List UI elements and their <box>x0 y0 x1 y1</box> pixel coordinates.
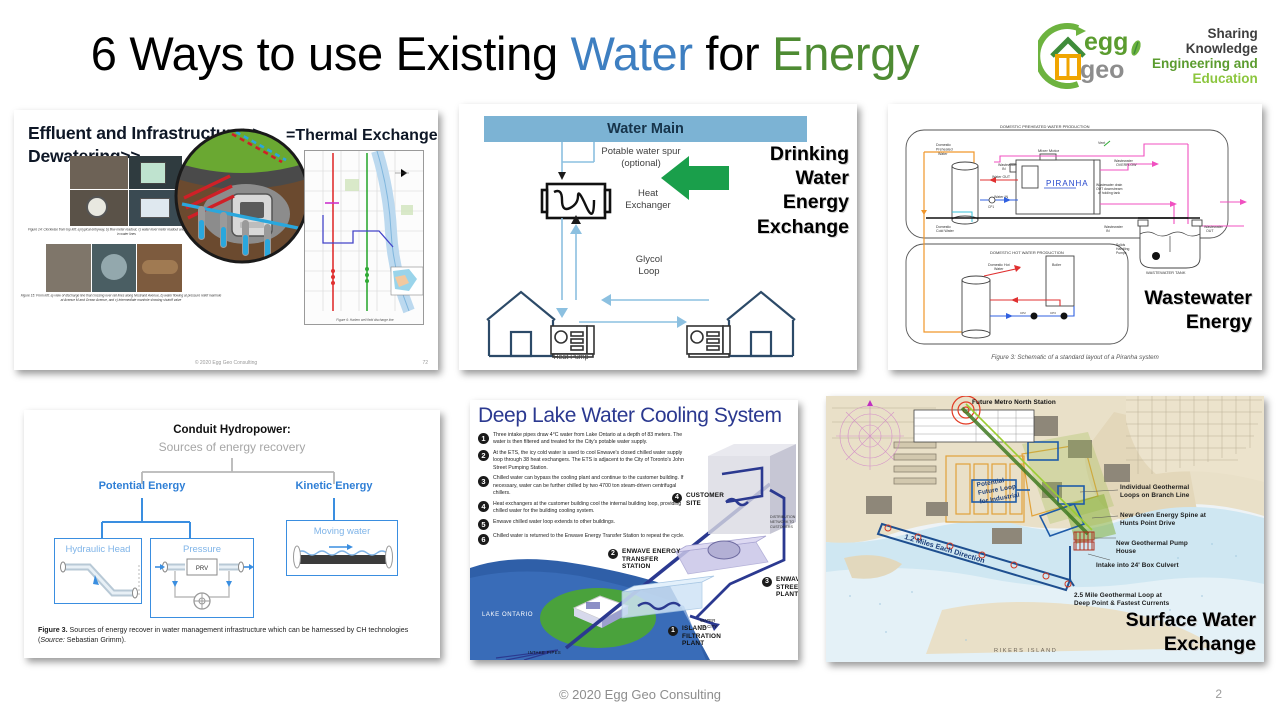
map-marker-4: 4 CUSTOMER SITE <box>672 492 726 507</box>
marker-label: CUSTOMER SITE <box>686 492 726 507</box>
step-number: 2 <box>478 450 489 461</box>
panel-effluent-slide-footer: © 2020 Egg Geo Consulting <box>14 360 438 366</box>
egg-geo-logo: egg geo Sharing Knowledge Engineering an… <box>1038 18 1270 94</box>
step-number: 3 <box>478 476 489 487</box>
deep-lake-title: Deep Lake Water Cooling System <box>478 404 782 428</box>
panel-effluent-infrastructure[interactable]: Effluent and Infrastructure>> Dewatering… <box>14 110 438 370</box>
wastewater-callout-line-1: Wastewater <box>1062 287 1252 310</box>
step-text: Chilled water is returned to the Enwave … <box>493 533 684 545</box>
slide-title-bar: 6 Ways to use Existing Water for Energy <box>0 18 1010 88</box>
title-part-water: Water <box>571 27 693 80</box>
map-label-new-geothermal-pump-house: New Geothermal Pump House <box>1116 540 1202 557</box>
svg-text:Boiler: Boiler <box>1052 263 1062 267</box>
title-part-1: 6 Ways to use Existing <box>91 27 571 80</box>
conduit-box-hydraulic-head: Hydraulic Head <box>54 538 142 604</box>
svg-text:geo: geo <box>1080 56 1124 84</box>
panel-conduit-hydropower[interactable]: Conduit Hydropower: Sources of energy re… <box>24 410 440 658</box>
svg-text:Vent: Vent <box>1098 141 1105 145</box>
callout-line-3: Energy <box>731 190 849 214</box>
logo-mark-icon: egg geo <box>1038 20 1150 92</box>
list-item: 3 Chilled water can bypass the cooling p… <box>478 475 688 497</box>
svg-text:CUSTOMERS: CUSTOMERS <box>770 525 793 529</box>
svg-text:DISTRIBUTION: DISTRIBUTION <box>770 515 796 519</box>
map-marker-3: 3 ENWAVE STREET PLANT <box>762 576 798 599</box>
marker-number: 4 <box>672 493 682 503</box>
map-marker-1: 1 ISLAND FILTRATION PLANT <box>668 625 730 648</box>
svg-text:Cold Water: Cold Water <box>936 229 955 233</box>
conduit-branch-potential: Potential Energy <box>82 480 202 492</box>
svg-text:LAKE ONTARIO: LAKE ONTARIO <box>482 612 533 618</box>
svg-text:Water: Water <box>938 152 948 156</box>
marker-label: ISLAND FILTRATION PLANT <box>682 625 730 648</box>
map-label-intake-box-culvert: Intake into 24' Box Culvert <box>1096 562 1182 570</box>
svg-text:Wastewater: Wastewater <box>998 163 1018 167</box>
svg-text:Mixer Motor: Mixer Motor <box>1038 148 1060 153</box>
conduit-box-moving-water: Moving water <box>286 520 398 576</box>
list-item: 4 Heat exchangers at the customer buildi… <box>478 501 688 516</box>
step-text: Chilled water can bypass the cooling pla… <box>493 475 688 497</box>
logo-tagline-line-2: Knowledge <box>1152 41 1258 56</box>
conduit-caption-bold: Figure 3. <box>38 626 68 634</box>
surface-callout-line-2: Exchange <box>1026 633 1256 656</box>
svg-text:DOMESTIC HOT WATER PRODUCTION: DOMESTIC HOT WATER PRODUCTION <box>990 250 1064 255</box>
surface-callout-line-1: Surface Water <box>1026 609 1256 632</box>
svg-text:Figure 6: Harlem well field di: Figure 6: Harlem well field discharge li… <box>336 318 394 322</box>
conduit-branch-kinetic: Kinetic Energy <box>274 480 394 492</box>
page-title: 6 Ways to use Existing Water for Energy <box>91 26 920 81</box>
map-label-individual-geothermal-loops: Individual Geothermal Loops on Branch Li… <box>1120 484 1206 501</box>
panel-wastewater-energy[interactable]: DOMESTIC PREHEATED WATER PRODUCTION DOME… <box>888 104 1262 370</box>
svg-text:CP1: CP1 <box>988 205 994 209</box>
svg-text:PRV: PRV <box>196 566 208 572</box>
callout-line-4: Exchange <box>731 215 849 239</box>
map-label-geothermal-loop-deep-point: 2.5 Mile Geothermal Loop at Deep Point &… <box>1074 592 1174 609</box>
photo-collage-top <box>70 156 182 226</box>
step-text: Heat exchangers at the customer building… <box>493 501 688 516</box>
step-number: 1 <box>478 433 489 444</box>
svg-text:WASTEWATER TANK: WASTEWATER TANK <box>1146 270 1186 275</box>
svg-text:IN: IN <box>1002 167 1006 171</box>
svg-text:egg: egg <box>1084 28 1128 56</box>
step-text: Three intake pipes draw 4°C water from L… <box>493 432 688 447</box>
svg-text:DOMESTIC PREHEATED WATER PRODU: DOMESTIC PREHEATED WATER PRODUCTION <box>1000 124 1090 129</box>
svg-text:WATER: WATER <box>700 618 715 623</box>
svg-text:Water IN: Water IN <box>994 195 1008 199</box>
list-item: 6 Chilled water is returned to the Enwav… <box>478 533 688 545</box>
photo-collage-bottom <box>46 244 182 292</box>
panel-wastewater-caption: Figure 3: Schematic of a standard layout… <box>888 354 1262 361</box>
svg-text:Water OUT: Water OUT <box>992 175 1011 179</box>
step-number: 5 <box>478 519 489 530</box>
step-number: 6 <box>478 534 489 545</box>
marker-number: 1 <box>668 626 678 636</box>
slide-page-number: 2 <box>1215 687 1222 701</box>
step-text: At the ETS, the icy cold water is used t… <box>493 450 688 472</box>
list-item: 1 Three intake pipes draw 4°C water from… <box>478 432 688 447</box>
conduit-box-hydraulic-head-label: Hydraulic Head <box>55 544 141 555</box>
svg-text:of holding tank: of holding tank <box>1098 191 1120 195</box>
svg-text:OUT: OUT <box>1206 229 1214 233</box>
logo-tagline-line-3: Engineering and <box>1152 56 1258 71</box>
marker-label: ENWAVE STREET PLANT <box>776 576 798 599</box>
discharge-line-map: Figure 6: Harlem well field discharge li… <box>304 150 424 325</box>
map-label-future-metro-north: Future Metro North Station <box>972 399 1102 407</box>
svg-text:INTAKE PIPES: INTAKE PIPES <box>528 650 561 655</box>
step-number: 4 <box>478 501 489 512</box>
logo-tagline-line-4: Education <box>1152 71 1258 86</box>
conduit-figure-caption: Figure 3. Sources of energy recover in w… <box>38 625 426 646</box>
svg-text:Water: Water <box>994 267 1004 271</box>
marker-number: 3 <box>762 577 772 587</box>
panel-drinking-water-callout: Drinking Water Energy Exchange <box>731 142 849 239</box>
panel-effluent-caption-2: Figure 15: From left: a) view of dischar… <box>19 294 223 304</box>
slide-footer-copyright: © 2020 Egg Geo Consulting <box>0 687 1280 702</box>
svg-text:OVERFLOW: OVERFLOW <box>1116 163 1137 167</box>
svg-text:IN: IN <box>1106 229 1110 233</box>
logo-tagline-line-1: Sharing <box>1152 26 1258 41</box>
panel-drinking-water-energy[interactable]: Water Main <box>459 104 857 370</box>
panel-surface-water-callout: Surface Water Exchange <box>1026 609 1256 656</box>
conduit-box-pressure-label: Pressure <box>151 544 253 555</box>
panel-surface-water-exchange[interactable]: RIKERS ISLAND Future Metro North Station… <box>826 396 1264 662</box>
conduit-caption-tail: Sebastian Grimm). <box>65 636 126 644</box>
panel-wastewater-callout: Wastewater Energy <box>1062 287 1252 334</box>
deep-lake-step-list: 1 Three intake pipes draw 4°C water from… <box>478 432 688 548</box>
wastewater-callout-line-2: Energy <box>1062 311 1252 334</box>
green-arrow-icon <box>659 154 729 202</box>
title-part-energy: Energy <box>772 27 919 80</box>
panel-effluent-slide-number: 72 <box>422 360 428 366</box>
svg-text:NETWORK TO: NETWORK TO <box>770 520 794 524</box>
callout-line-1: Drinking <box>731 142 849 166</box>
list-item: 5 Enwave chilled water loop extends to o… <box>478 519 688 531</box>
svg-text:CP3: CP3 <box>1050 311 1056 315</box>
svg-text:PIRANHA: PIRANHA <box>1046 179 1089 188</box>
callout-line-2: Water <box>731 166 849 190</box>
label-glycol-loop: Glycol Loop <box>621 254 677 278</box>
map-marker-2: 2 ENWAVE ENERGY TRANSFER STATION <box>608 548 686 571</box>
conduit-caption-source: Source: <box>40 636 64 644</box>
map-label-green-energy-spine: New Green Energy Spine at Hunts Point Dr… <box>1120 512 1206 529</box>
panel-deep-lake-water-cooling[interactable]: LAKE ONTARIO INTAKE PIPES WATER TO CITY … <box>470 400 798 660</box>
svg-text:Pumps: Pumps <box>1116 251 1127 255</box>
conduit-box-moving-water-label: Moving water <box>287 526 397 537</box>
label-glycol-loop-text: Glycol Loop <box>636 254 662 277</box>
svg-text:Preheated: Preheated <box>936 148 953 152</box>
svg-text:CP2: CP2 <box>1020 311 1026 315</box>
marker-label: ENWAVE ENERGY TRANSFER STATION <box>622 548 686 571</box>
conduit-box-pressure: Pressure PRV <box>150 538 254 618</box>
marker-number: 2 <box>608 549 618 559</box>
list-item: 2 At the ETS, the icy cold water is used… <box>478 450 688 472</box>
thermal-tunnel-illustration <box>174 128 310 264</box>
svg-text:Domestic: Domestic <box>936 143 951 147</box>
step-text: Enwave chilled water loop extends to oth… <box>493 519 615 531</box>
label-heat-pump: Heat Pump <box>541 354 601 363</box>
logo-tagline: Sharing Knowledge Engineering and Educat… <box>1152 26 1258 86</box>
title-part-3: for <box>693 27 772 80</box>
